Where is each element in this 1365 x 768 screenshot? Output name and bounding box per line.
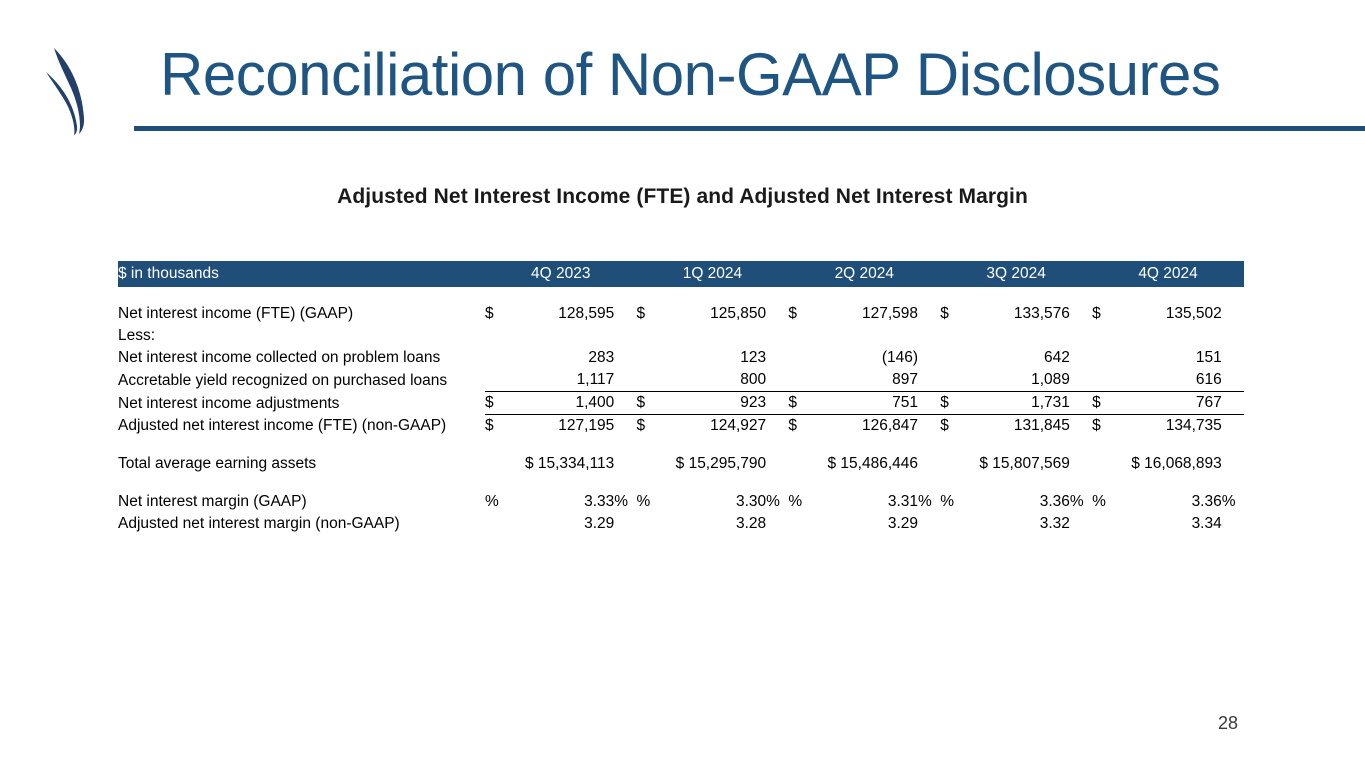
row-value: $ 15,295,790 — [666, 453, 767, 475]
slide-header: Reconciliation of Non-GAAP Disclosures — [0, 0, 1365, 140]
row-trailing: % — [918, 491, 940, 513]
row-trailing — [1070, 347, 1092, 369]
row-value: 767 — [1121, 392, 1222, 415]
row-trailing — [1222, 513, 1244, 535]
title-divider — [134, 126, 1365, 131]
row-symbol: $ — [485, 303, 514, 325]
row-symbol — [485, 513, 514, 535]
page-number: 28 — [1218, 713, 1238, 734]
row-value: 1,089 — [969, 369, 1070, 392]
table-row: Total average earning assets $ 15,334,11… — [118, 453, 1244, 475]
row-trailing — [766, 392, 788, 415]
row-trailing — [918, 347, 940, 369]
row-symbol — [485, 453, 514, 475]
row-trailing — [918, 392, 940, 415]
row-trailing — [614, 347, 636, 369]
row-label: Net interest income collected on problem… — [118, 347, 485, 369]
row-value: 3.36 — [969, 491, 1070, 513]
row-trailing — [918, 453, 940, 475]
row-value: 3.31 — [818, 491, 919, 513]
row-trailing — [766, 369, 788, 392]
row-value: 1,731 — [969, 392, 1070, 415]
row-symbol — [788, 453, 817, 475]
row-value: $ 16,068,893 — [1121, 453, 1222, 475]
row-trailing: % — [614, 491, 636, 513]
row-value: 127,598 — [818, 303, 919, 325]
row-value: 897 — [818, 369, 919, 392]
page-title: Reconciliation of Non-GAAP Disclosures — [160, 38, 1360, 112]
row-symbol — [637, 369, 666, 392]
row-value: 124,927 — [666, 415, 767, 438]
row-trailing — [1222, 392, 1244, 415]
header-period-4q2024: 4Q 2024 — [1092, 261, 1244, 287]
row-value: 131,845 — [969, 415, 1070, 438]
row-symbol — [1092, 513, 1121, 535]
row-trailing — [918, 513, 940, 535]
row-value: 134,735 — [1121, 415, 1222, 438]
row-symbol: $ — [1092, 415, 1121, 438]
row-trailing — [1222, 369, 1244, 392]
row-trailing — [1222, 347, 1244, 369]
spacer — [118, 437, 1244, 453]
row-symbol: $ — [940, 303, 969, 325]
row-value: 3.28 — [666, 513, 767, 535]
row-symbol: $ — [788, 303, 817, 325]
row-symbol: $ — [485, 415, 514, 438]
row-value: 128,595 — [514, 303, 614, 325]
row-value: 1,117 — [514, 369, 614, 392]
row-label: Total average earning assets — [118, 453, 485, 475]
row-trailing — [1070, 453, 1092, 475]
row-symbol: % — [637, 491, 666, 513]
table-row: Net interest income adjustments $ 1,400 … — [118, 392, 1244, 415]
row-symbol — [637, 453, 666, 475]
row-trailing — [1070, 392, 1092, 415]
row-symbol: % — [485, 491, 514, 513]
row-trailing — [1222, 415, 1244, 438]
row-trailing — [614, 369, 636, 392]
table-row: Net interest income collected on problem… — [118, 347, 1244, 369]
reconciliation-table: $ in thousands 4Q 2023 1Q 2024 2Q 2024 3… — [118, 261, 1244, 535]
table-row: Net interest margin (GAAP) % 3.33 % % 3.… — [118, 491, 1244, 513]
row-label: Adjusted net interest income (FTE) (non-… — [118, 415, 485, 438]
row-value — [514, 325, 614, 347]
table-row: Adjusted net interest income (FTE) (non-… — [118, 415, 1244, 438]
row-value: 127,195 — [514, 415, 614, 438]
row-value: 135,502 — [1121, 303, 1222, 325]
row-trailing — [766, 415, 788, 438]
row-symbol: $ — [637, 415, 666, 438]
row-symbol: $ — [788, 392, 817, 415]
row-trailing — [614, 415, 636, 438]
row-value — [666, 325, 767, 347]
row-value: $ 15,334,113 — [514, 453, 614, 475]
row-trailing — [614, 303, 636, 325]
row-symbol: $ — [1092, 392, 1121, 415]
row-label: Net interest margin (GAAP) — [118, 491, 485, 513]
header-period-1q2024: 1Q 2024 — [637, 261, 789, 287]
row-value: 3.32 — [969, 513, 1070, 535]
row-trailing — [1070, 513, 1092, 535]
row-symbol — [485, 325, 514, 347]
table-row: Less: — [118, 325, 1244, 347]
row-symbol — [1092, 347, 1121, 369]
row-trailing — [766, 513, 788, 535]
row-symbol — [788, 325, 817, 347]
row-label: Accretable yield recognized on purchased… — [118, 369, 485, 392]
row-value: 751 — [818, 392, 919, 415]
row-value: $ 15,807,569 — [969, 453, 1070, 475]
row-trailing — [1070, 325, 1092, 347]
row-symbol — [1092, 325, 1121, 347]
row-trailing: % — [1070, 491, 1092, 513]
row-symbol — [788, 513, 817, 535]
table-row: Accretable yield recognized on purchased… — [118, 369, 1244, 392]
row-value: 616 — [1121, 369, 1222, 392]
row-value: 3.29 — [818, 513, 919, 535]
row-symbol — [637, 325, 666, 347]
row-value: 3.30 — [666, 491, 767, 513]
row-trailing — [1070, 369, 1092, 392]
row-value: 642 — [969, 347, 1070, 369]
row-trailing: % — [766, 491, 788, 513]
row-symbol — [637, 347, 666, 369]
row-trailing — [614, 392, 636, 415]
row-value: 923 — [666, 392, 767, 415]
row-trailing — [614, 513, 636, 535]
row-symbol — [637, 513, 666, 535]
row-label: Less: — [118, 325, 485, 347]
row-symbol — [788, 347, 817, 369]
row-value: (146) — [818, 347, 919, 369]
row-value: 3.29 — [514, 513, 614, 535]
spacer — [118, 475, 1244, 491]
row-trailing — [614, 453, 636, 475]
row-trailing — [1222, 325, 1244, 347]
row-value: 3.36 — [1121, 491, 1222, 513]
row-value: 151 — [1121, 347, 1222, 369]
spacer — [118, 287, 1244, 303]
row-symbol — [940, 369, 969, 392]
header-period-4q2023: 4Q 2023 — [485, 261, 637, 287]
row-symbol — [940, 453, 969, 475]
row-trailing — [766, 347, 788, 369]
row-symbol — [940, 325, 969, 347]
row-trailing: % — [1222, 491, 1244, 513]
row-value: 3.34 — [1121, 513, 1222, 535]
row-trailing — [918, 325, 940, 347]
row-symbol: % — [788, 491, 817, 513]
row-value — [818, 325, 919, 347]
row-value: 133,576 — [969, 303, 1070, 325]
row-value: $ 15,486,446 — [818, 453, 919, 475]
table-row: Adjusted net interest margin (non-GAAP) … — [118, 513, 1244, 535]
feather-swoosh-logo-icon — [44, 44, 100, 136]
row-symbol — [1092, 369, 1121, 392]
row-trailing — [918, 369, 940, 392]
row-symbol — [485, 369, 514, 392]
row-symbol: $ — [637, 303, 666, 325]
row-trailing — [1070, 415, 1092, 438]
row-value — [1121, 325, 1222, 347]
row-value: 125,850 — [666, 303, 767, 325]
row-label: Net interest income (FTE) (GAAP) — [118, 303, 485, 325]
row-symbol — [485, 347, 514, 369]
header-period-3q2024: 3Q 2024 — [940, 261, 1092, 287]
row-trailing — [766, 325, 788, 347]
row-symbol: $ — [485, 392, 514, 415]
row-symbol — [788, 369, 817, 392]
row-trailing — [614, 325, 636, 347]
row-value: 126,847 — [818, 415, 919, 438]
header-period-2q2024: 2Q 2024 — [788, 261, 940, 287]
row-trailing — [1222, 453, 1244, 475]
row-value — [969, 325, 1070, 347]
row-value: 800 — [666, 369, 767, 392]
header-units-label: $ in thousands — [118, 261, 485, 287]
row-trailing — [766, 303, 788, 325]
row-symbol — [1092, 453, 1121, 475]
row-symbol: $ — [940, 415, 969, 438]
row-symbol: % — [1092, 491, 1121, 513]
row-symbol: $ — [788, 415, 817, 438]
row-trailing — [1070, 303, 1092, 325]
row-label: Net interest income adjustments — [118, 392, 485, 415]
row-symbol: $ — [1092, 303, 1121, 325]
row-symbol — [940, 347, 969, 369]
table-subtitle: Adjusted Net Interest Income (FTE) and A… — [0, 185, 1365, 209]
row-trailing — [918, 415, 940, 438]
row-trailing — [1222, 303, 1244, 325]
table-row: Net interest income (FTE) (GAAP) $ 128,5… — [118, 303, 1244, 325]
row-trailing — [918, 303, 940, 325]
row-symbol: $ — [940, 392, 969, 415]
row-symbol: $ — [637, 392, 666, 415]
table-header-row: $ in thousands 4Q 2023 1Q 2024 2Q 2024 3… — [118, 261, 1244, 287]
row-symbol: % — [940, 491, 969, 513]
row-trailing — [766, 453, 788, 475]
row-symbol — [940, 513, 969, 535]
row-value: 123 — [666, 347, 767, 369]
row-value: 3.33 — [514, 491, 614, 513]
row-label: Adjusted net interest margin (non-GAAP) — [118, 513, 485, 535]
row-value: 1,400 — [514, 392, 614, 415]
row-value: 283 — [514, 347, 614, 369]
